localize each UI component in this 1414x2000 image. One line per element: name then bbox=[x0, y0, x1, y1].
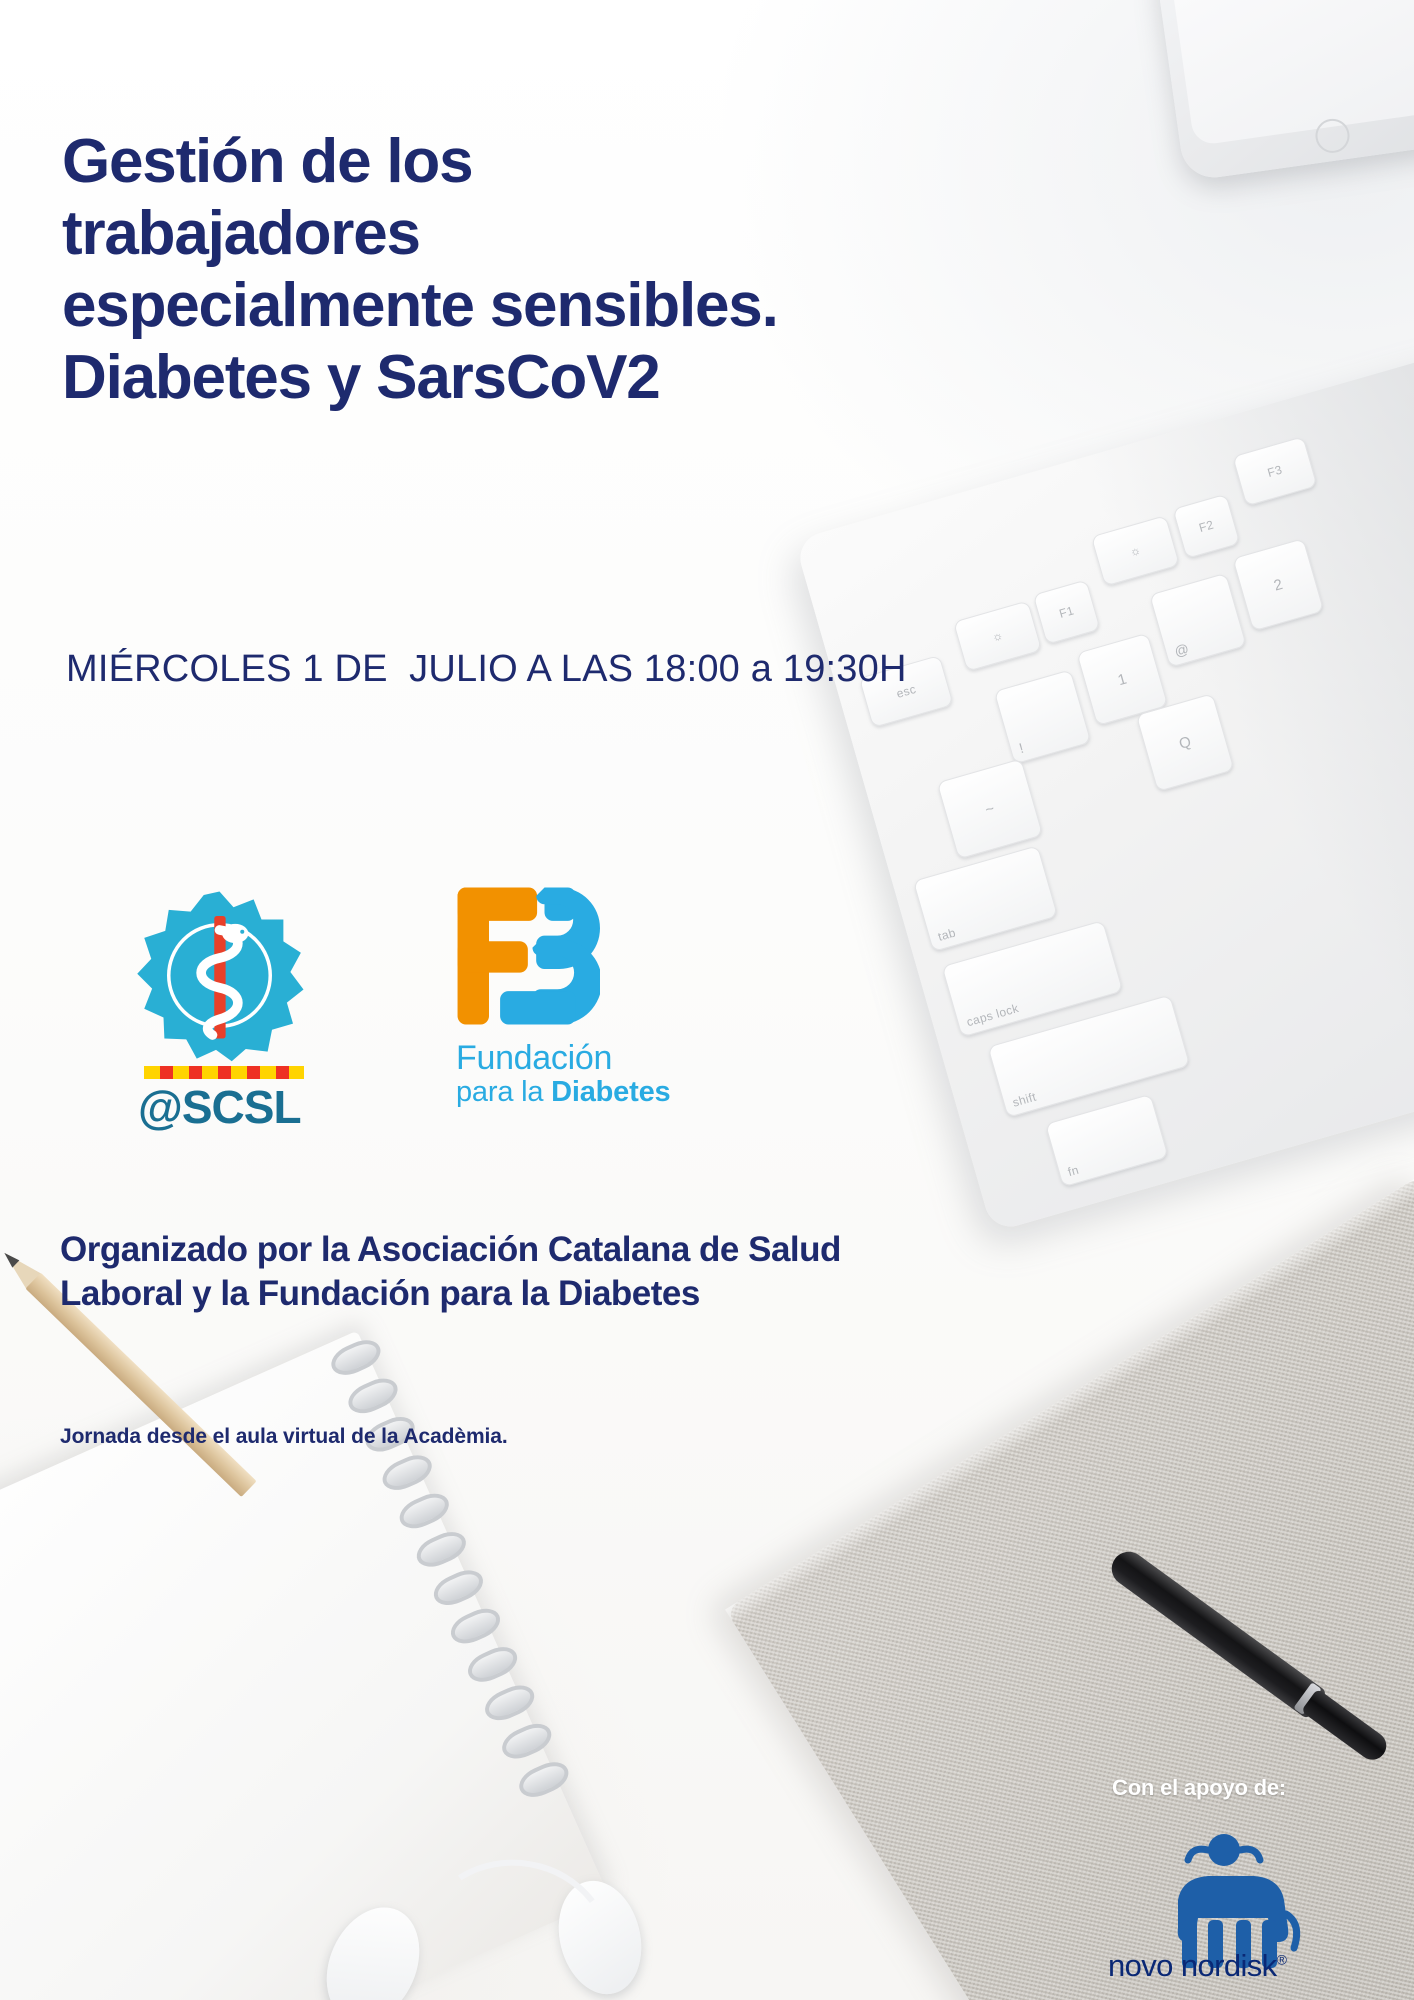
gear-caduceus-icon bbox=[132, 888, 307, 1063]
page-title: Gestión de los trabajadores especialment… bbox=[62, 126, 962, 414]
catalan-senyera-stripes bbox=[144, 1066, 304, 1079]
event-date: MIÉRCOLES 1 DE JULIO A LAS 18:00 a 19:30… bbox=[66, 648, 907, 691]
sponsor-brand-name: novo nordisk bbox=[1108, 1948, 1277, 1983]
logo-fundacion-diabetes: Fundación para la Diabetes bbox=[452, 880, 702, 1120]
fundacion-line2-bold: Diabetes bbox=[551, 1076, 670, 1108]
fundacion-line1: Fundación bbox=[456, 1040, 612, 1076]
registered-trademark-icon: ® bbox=[1277, 1952, 1287, 1968]
fundacion-line2: para la Diabetes bbox=[456, 1076, 670, 1108]
sponsor-label: Con el apoyo de: bbox=[1112, 1775, 1286, 1801]
venue-note: Jornada desde el aula virtual de la Acad… bbox=[60, 1425, 860, 1449]
fd-monogram-icon bbox=[452, 880, 600, 1032]
fundacion-line2-light: para la bbox=[456, 1076, 551, 1108]
poster-content: Gestión de los trabajadores especialment… bbox=[0, 0, 1414, 2000]
poster-root: esc ☼ F1 ☼ F2 F3 ! 1 @ 2 ~ Q tab caps lo… bbox=[0, 0, 1414, 2000]
scsl-wordmark: @SCSL bbox=[138, 1084, 301, 1130]
organizer-text: Organizado por la Asociación Catalana de… bbox=[60, 1228, 960, 1316]
logo-scsl: @SCSL bbox=[132, 888, 342, 1118]
sponsor-brand: novo nordisk® bbox=[1108, 1948, 1286, 1984]
